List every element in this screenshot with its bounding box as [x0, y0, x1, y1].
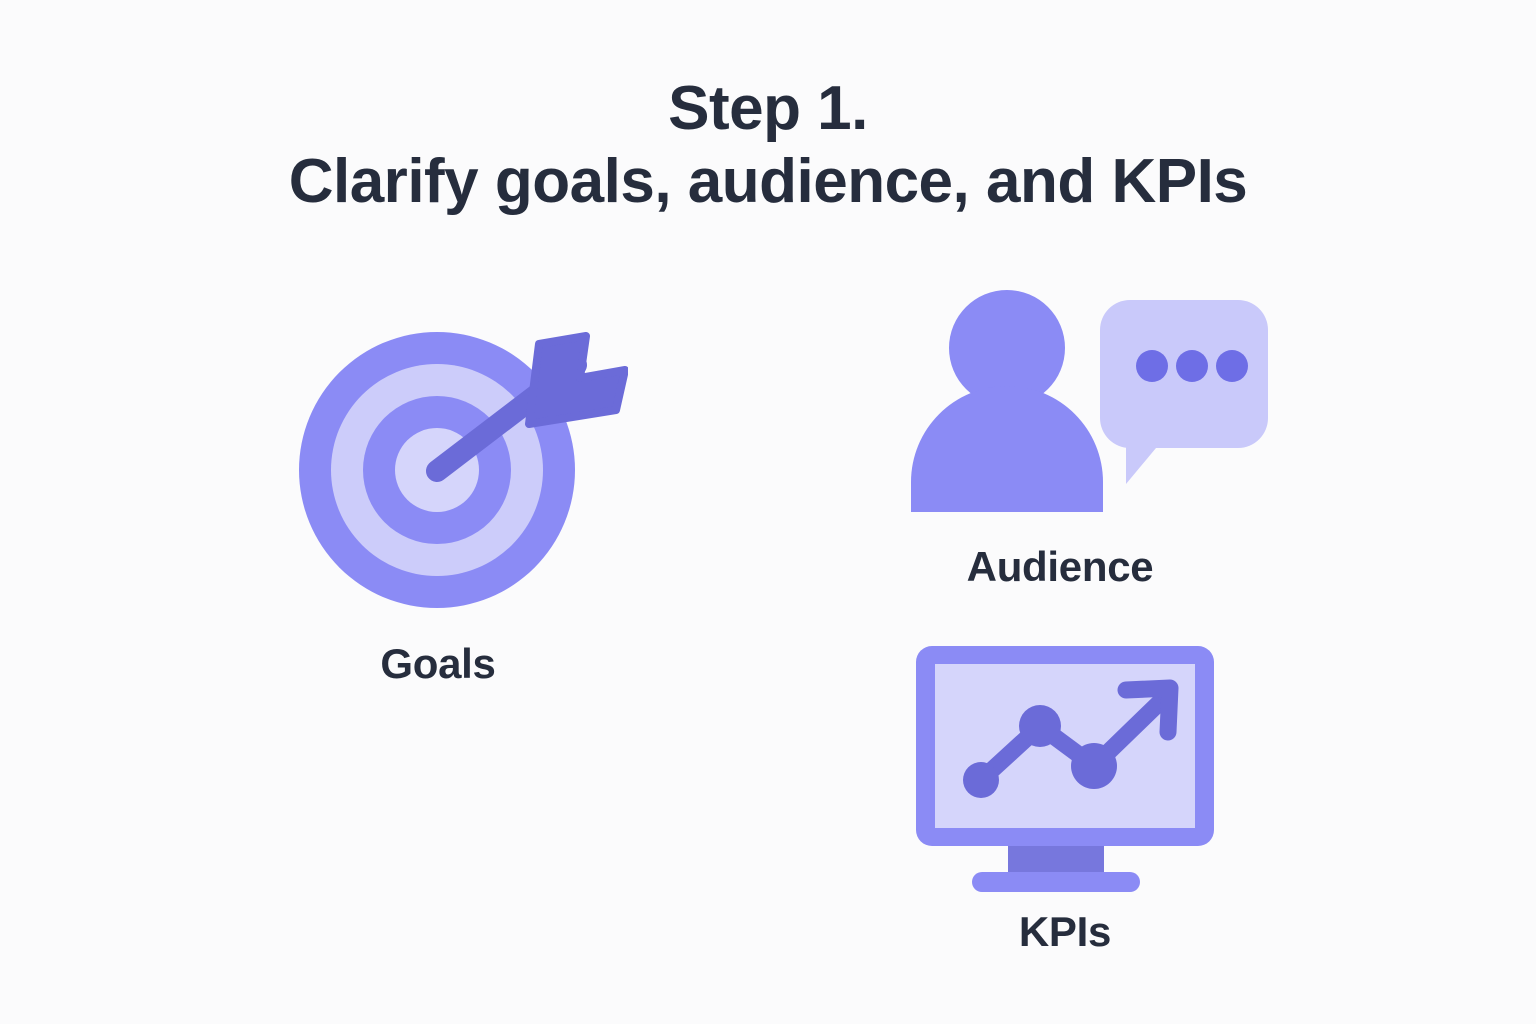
- target-icon: [298, 332, 628, 612]
- chart-dot-3: [1071, 743, 1117, 789]
- kpis-label: KPIs: [900, 908, 1230, 956]
- title-line-step: Step 1.: [0, 72, 1536, 145]
- speech-bubble-dot-2: [1176, 350, 1208, 382]
- monitor-stand-neck: [1008, 846, 1104, 876]
- audience-label: Audience: [860, 543, 1260, 591]
- target-arrow-fletching: [529, 336, 625, 424]
- speech-bubble-dot-3: [1216, 350, 1248, 382]
- chart-dot-1: [963, 762, 999, 798]
- slide-canvas: Step 1. Clarify goals, audience, and KPI…: [0, 0, 1536, 1024]
- goals-label: Goals: [298, 640, 578, 688]
- chart-dot-2: [1019, 705, 1061, 747]
- page-title: Step 1. Clarify goals, audience, and KPI…: [0, 72, 1536, 218]
- person-body: [911, 386, 1103, 512]
- monitor-chart-icon: [908, 640, 1228, 892]
- speech-bubble-dot-1: [1136, 350, 1168, 382]
- monitor-stand-base: [972, 872, 1140, 892]
- person-speech-bubble-icon: [900, 288, 1280, 520]
- title-line-subject: Clarify goals, audience, and KPIs: [0, 145, 1536, 218]
